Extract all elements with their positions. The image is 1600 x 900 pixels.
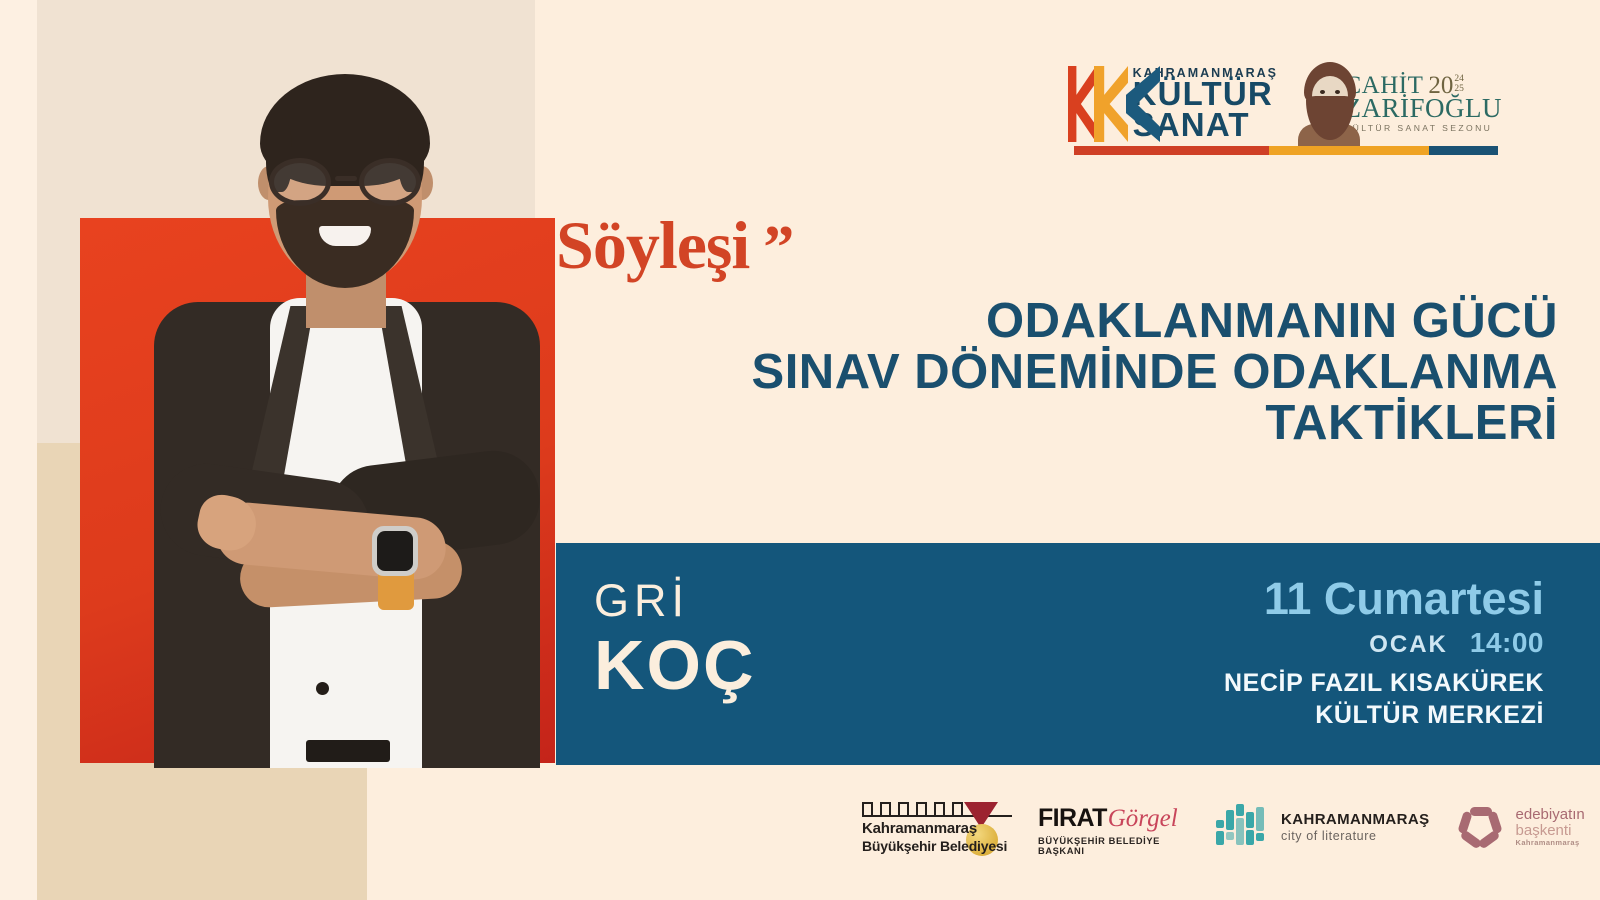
capital-wordmark: edebiyatın başkenti Kahramanmaraş — [1516, 807, 1585, 846]
speaker-name: GRİ KOÇ — [594, 578, 756, 703]
capital-line-3: Kahramanmaraş — [1516, 839, 1585, 847]
pentagon-knot-icon — [1456, 802, 1508, 852]
venue-line-2: KÜLTÜR MERKEZİ — [984, 701, 1544, 730]
capital-line-1: edebiyatın — [1516, 807, 1585, 822]
photo-smile — [319, 226, 371, 246]
speaker-photo — [120, 40, 570, 765]
venue-line-1: NECİP FAZIL KISAKÜREK — [984, 669, 1544, 698]
event-month: OCAK — [1369, 631, 1448, 659]
photo-smartwatch — [372, 526, 418, 576]
portrait-eye-right — [1335, 90, 1340, 94]
kks-letter-k-orange — [1094, 66, 1128, 142]
glasses-bridge — [335, 176, 357, 181]
photo-jacket-button — [316, 682, 329, 695]
mayor-first-name: FIRAT — [1038, 804, 1107, 833]
glasses-lens-right — [359, 158, 421, 206]
event-schedule: 11 Cumartesi OCAK 14:00 NECİP FAZIL KISA… — [984, 575, 1544, 730]
mayor-mark: FIRAT Görgel BÜYÜKŞEHİR BELEDİYE BAŞKANI — [1038, 804, 1190, 850]
municipality-mark: Kahramanmaraş Büyükşehir Belediyesi — [860, 796, 1012, 858]
title-line-1: ODAKLANMANIN GÜCÜ — [548, 296, 1558, 347]
event-time: 14:00 — [1470, 627, 1544, 659]
glasses-lens-left — [269, 158, 331, 206]
event-title: ODAKLANMANIN GÜCÜ SINAV DÖNEMİNDE ODAKLA… — [548, 296, 1558, 449]
photo-belt — [306, 740, 390, 762]
month-time-row: OCAK 14:00 — [984, 627, 1544, 659]
literature-wordmark: KAHRAMANMARAŞ city of literature — [1281, 811, 1430, 843]
brand-divider-bar — [1074, 146, 1498, 155]
mayor-logo: FIRAT Görgel BÜYÜKŞEHİR BELEDİYE BAŞKANI — [1038, 804, 1190, 850]
kicker-text: Söyleşi — [556, 207, 749, 283]
literature-mosaic-icon — [1216, 802, 1272, 852]
mayor-name-row: FIRAT Görgel — [1038, 804, 1190, 833]
season-subtitle: KÜLTÜR SANAT SEZONU — [1345, 124, 1503, 132]
divider-segment-red — [1074, 146, 1269, 155]
event-day: 11 Cumartesi — [984, 575, 1544, 623]
municipality-logo: Kahramanmaraş Büyükşehir Belediyesi — [860, 796, 1012, 858]
city-of-literature-logo: KAHRAMANMARAŞ city of literature — [1216, 802, 1430, 852]
glasses-icon — [265, 158, 425, 206]
divider-segment-blue — [1429, 146, 1498, 155]
event-type-kicker: Söyleşi” — [556, 206, 790, 285]
capital-of-literature-logo: edebiyatın başkenti Kahramanmaraş — [1456, 802, 1585, 852]
literature-tagline: city of literature — [1281, 829, 1430, 843]
capital-line-2: başkenti — [1516, 823, 1585, 838]
speaker-first-name: GRİ — [594, 578, 756, 623]
kks-monogram-icon — [1068, 66, 1127, 142]
cahit-zarifoglu-portrait-icon — [1296, 62, 1340, 144]
kks-letter-k-red — [1068, 66, 1096, 142]
kultur-sanat-logo: KAHRAMANMARAŞ KÜLTÜR SANAT — [1068, 64, 1278, 144]
mayor-title: BÜYÜKŞEHİR BELEDİYE BAŞKANI — [1038, 836, 1190, 856]
mayor-last-name: Görgel — [1108, 805, 1178, 833]
season-year-stack: 24 25 — [1454, 75, 1464, 95]
cahit-zarifoglu-logo: CAHİT 20 24 25 ZARİFOĞLU KÜLTÜR SANAT SE… — [1296, 60, 1502, 146]
divider-segment-orange — [1269, 146, 1429, 155]
zarifoglu-label: ZARİFOĞLU — [1345, 96, 1503, 122]
speaker-last-name: KOÇ — [594, 629, 756, 703]
poster-canvas: KAHRAMANMARAŞ KÜLTÜR SANAT CAHİT 20 — [0, 0, 1600, 900]
title-line-2: SINAV DÖNEMİNDE ODAKLANMA — [548, 347, 1558, 398]
title-line-3: TAKTİKLERİ — [548, 398, 1558, 449]
municipality-line-2: Büyükşehir Belediyesi — [862, 838, 1007, 854]
municipality-line-1: Kahramanmaraş — [862, 820, 977, 837]
footer-logo-strip: Kahramanmaraş Büyükşehir Belediyesi FIRA… — [860, 788, 1520, 866]
portrait-eye-left — [1320, 90, 1325, 94]
literature-city: KAHRAMANMARAŞ — [1281, 811, 1430, 828]
cahit-zarifoglu-wordmark: CAHİT 20 24 25 ZARİFOĞLU KÜLTÜR SANAT SE… — [1345, 74, 1503, 133]
quote-mark-icon: ” — [763, 214, 790, 282]
